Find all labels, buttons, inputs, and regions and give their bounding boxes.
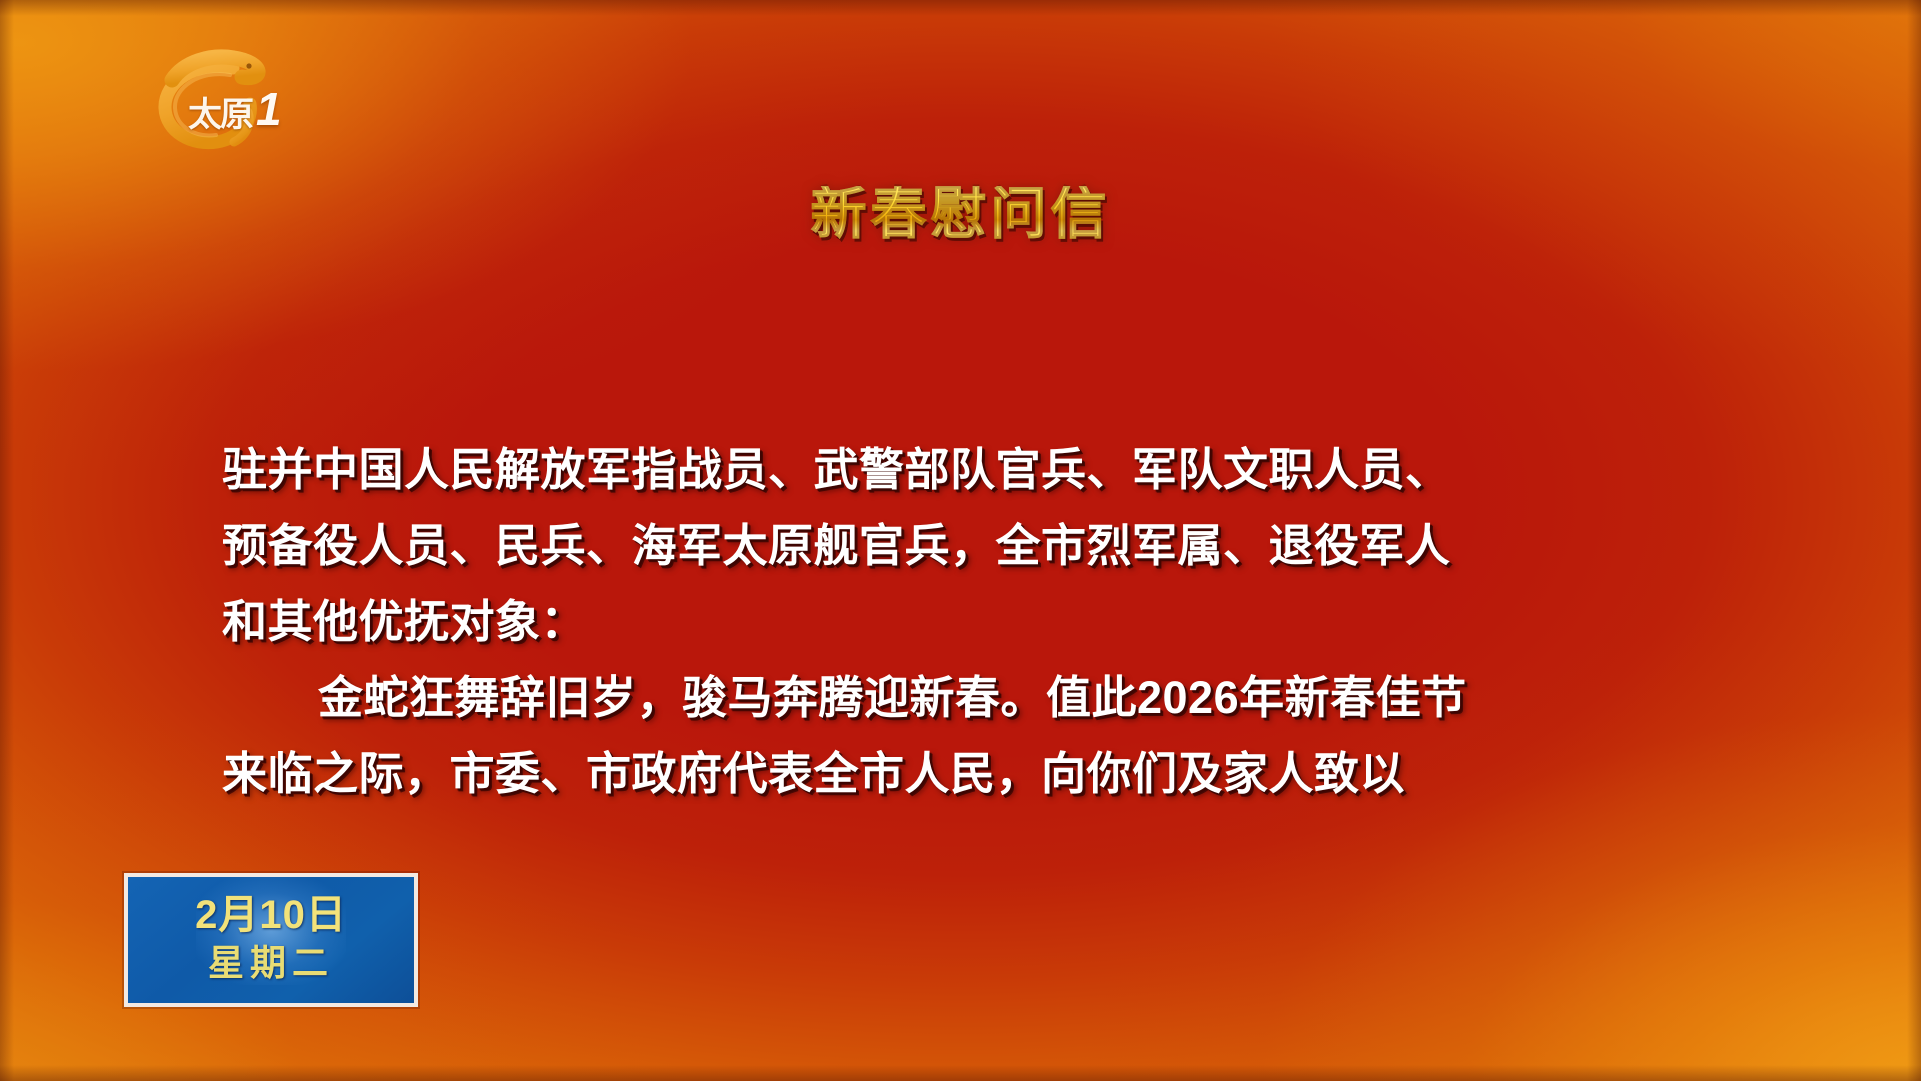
- letter-line: 和其他优抚对象：: [222, 584, 1711, 660]
- channel-number: 1: [256, 86, 282, 132]
- date-badge: 2月10日 星期二: [124, 873, 418, 1007]
- date-badge-weekday: 星期二: [128, 945, 414, 981]
- channel-logo: 太原 1: [138, 46, 306, 154]
- date-badge-day: 2月10日: [128, 895, 414, 935]
- letter-line: 预备役人员、民兵、海军太原舰官兵，全市烈军属、退役军人: [222, 508, 1711, 584]
- letter-line: 来临之际，市委、市政府代表全市人民，向你们及家人致以: [222, 736, 1711, 812]
- page-title: 新春慰问信: [0, 186, 1921, 242]
- letter-line: 驻并中国人民解放军指战员、武警部队官兵、军队文职人员、: [222, 432, 1711, 508]
- letter-line: 金蛇狂舞辞旧岁，骏马奔腾迎新春。值此2026年新春佳节: [222, 660, 1711, 736]
- letter-body: 驻并中国人民解放军指战员、武警部队官兵、军队文职人员、 预备役人员、民兵、海军太…: [222, 432, 1711, 812]
- broadcast-screen: 太原 1 新春慰问信 驻并中国人民解放军指战员、武警部队官兵、军队文职人员、 预…: [0, 0, 1921, 1081]
- channel-station-name: 太原: [184, 98, 256, 132]
